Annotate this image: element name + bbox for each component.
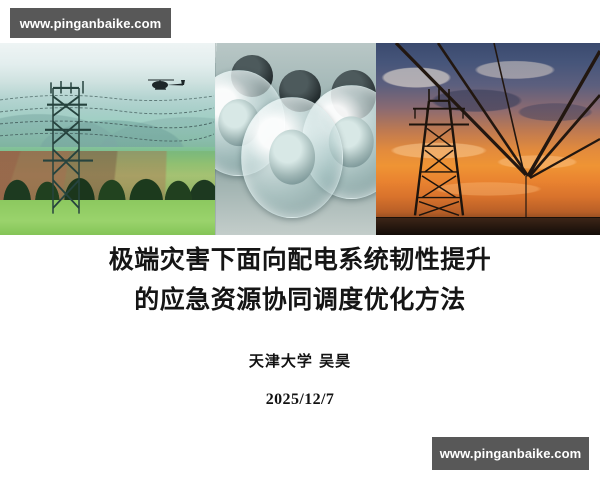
photo-glass-insulator-discs	[215, 43, 376, 235]
page-title-line-2: 的应急资源协同调度优化方法	[0, 280, 600, 320]
page-title-line-1: 极端灾害下面向配电系统韧性提升	[0, 240, 600, 280]
insulator-disc-core	[269, 130, 315, 185]
transmission-tower-icon	[41, 74, 95, 228]
photo-sunset-pylon-power-lines	[376, 43, 600, 235]
watermark-bottom: www.pinganbaike.com	[432, 437, 589, 470]
presenter-affiliation: 天津大学 吴昊	[0, 350, 600, 371]
treeline-layer	[0, 176, 215, 203]
banner-image-strip	[0, 43, 600, 235]
sunset-transmission-tower-icon	[407, 85, 471, 223]
watermark-bottom-text: www.pinganbaike.com	[440, 446, 582, 461]
title-slide: www.pinganbaike.com	[0, 0, 600, 480]
horizon-ground-layer	[376, 218, 600, 235]
watermark-top: www.pinganbaike.com	[10, 8, 171, 38]
watermark-top-text: www.pinganbaike.com	[20, 16, 162, 31]
helicopter-icon	[146, 76, 186, 92]
foreground-grass-layer	[0, 200, 215, 235]
title-text-block: 极端灾害下面向配电系统韧性提升 的应急资源协同调度优化方法 天津大学 吴昊 20…	[0, 240, 600, 409]
photo-transmission-tower-helicopter-farmland	[0, 43, 215, 235]
insulator-disc	[241, 97, 343, 218]
presentation-date: 2025/12/7	[0, 391, 600, 409]
